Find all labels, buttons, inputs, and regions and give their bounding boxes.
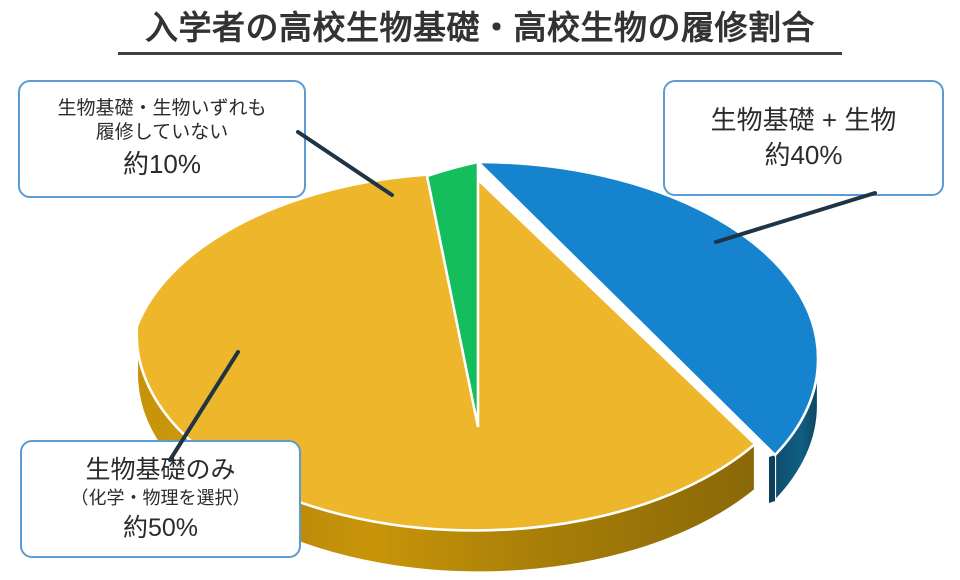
callout-none-enrolled[interactable]: 生物基礎・生物いずれも 履修していない 約10%: [18, 80, 306, 198]
callout-basic-name: 生物基礎のみ: [85, 454, 235, 486]
callout-none-line1: 生物基礎・生物いずれも: [57, 97, 266, 121]
callout-basic-note: （化学・物理を選択）: [71, 487, 251, 510]
callout-both-courses[interactable]: 生物基礎 + 生物 約40%: [663, 80, 944, 196]
callout-none-percent: 約10%: [123, 148, 201, 181]
callout-both-percent: 約40%: [764, 139, 842, 172]
callout-basic-only[interactable]: 生物基礎のみ （化学・物理を選択） 約50%: [20, 440, 301, 558]
chart-canvas: 入学者の高校生物基礎・高校生物の履修割合: [0, 0, 960, 580]
callout-none-line2: 履修していない: [96, 121, 228, 145]
callout-both-name: 生物基礎 + 生物: [711, 104, 897, 137]
callout-basic-percent: 約50%: [123, 512, 198, 544]
